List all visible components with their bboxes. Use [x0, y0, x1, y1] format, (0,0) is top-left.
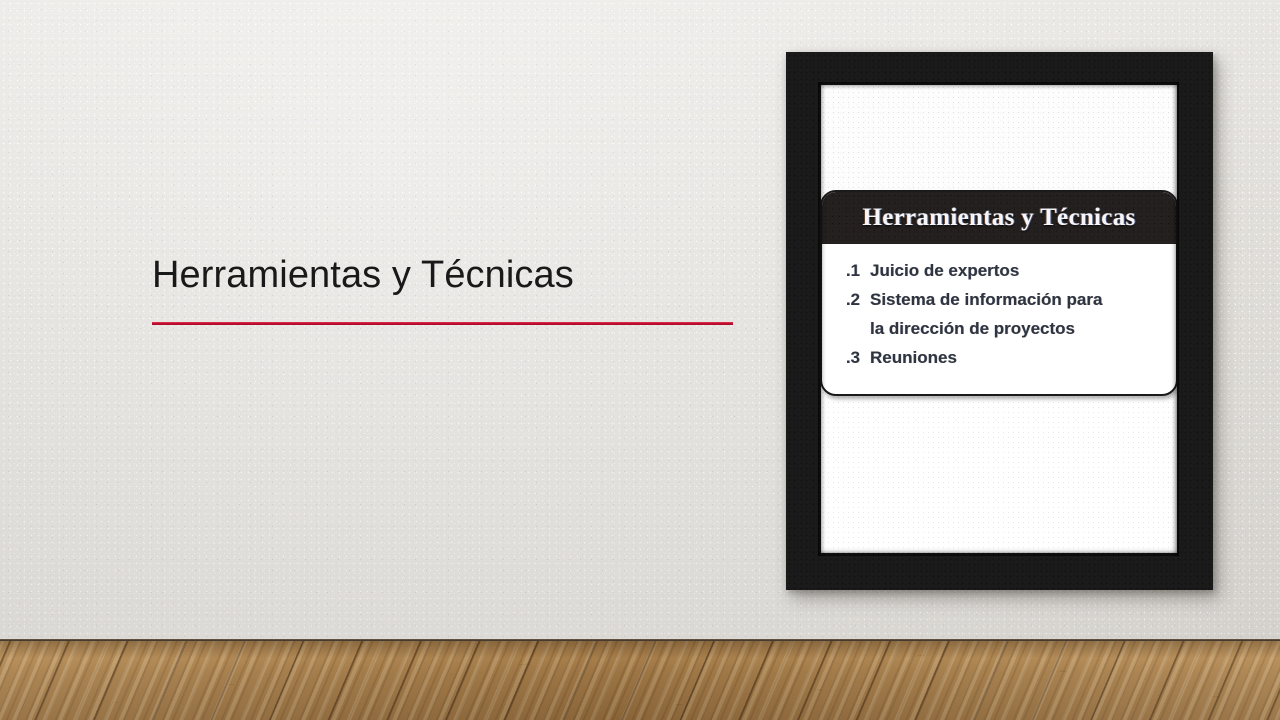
list-item: .2 Sistema de información para — [834, 287, 1166, 314]
list-item-number: .2 — [834, 287, 860, 314]
wooden-floor — [0, 641, 1280, 720]
photo-lower-page — [821, 400, 1177, 553]
framed-photo: Herramientas y Técnicas .1 Juicio de exp… — [821, 85, 1177, 553]
list-item-label: Sistema de información para — [870, 287, 1102, 314]
picture-frame[interactable]: Herramientas y Técnicas .1 Juicio de exp… — [786, 52, 1213, 590]
card-item-list: .1 Juicio de expertos .2 Sistema de info… — [822, 244, 1176, 379]
page-title: Herramientas y Técnicas — [152, 254, 752, 297]
list-item-label: Juicio de expertos — [870, 258, 1019, 285]
list-item-label: Reuniones — [870, 345, 957, 372]
list-item-continuation: la dirección de proyectos — [834, 316, 1166, 343]
list-item: .3 Reuniones — [834, 345, 1166, 372]
list-item-number: .1 — [834, 258, 860, 285]
floor-shading — [0, 641, 1280, 720]
list-item: .1 Juicio de expertos — [834, 258, 1166, 285]
card-header-bar: Herramientas y Técnicas — [822, 192, 1176, 244]
presentation-slide: Herramientas y Técnicas Herramientas y T… — [0, 0, 1280, 720]
slide-title-block: Herramientas y Técnicas — [152, 254, 752, 297]
card-header-title: Herramientas y Técnicas — [862, 204, 1135, 232]
list-item-number: .3 — [834, 345, 860, 372]
list-item-label: la dirección de proyectos — [870, 316, 1075, 343]
tools-techniques-card: Herramientas y Técnicas .1 Juicio de exp… — [821, 190, 1177, 396]
title-underline-rule — [152, 322, 733, 325]
